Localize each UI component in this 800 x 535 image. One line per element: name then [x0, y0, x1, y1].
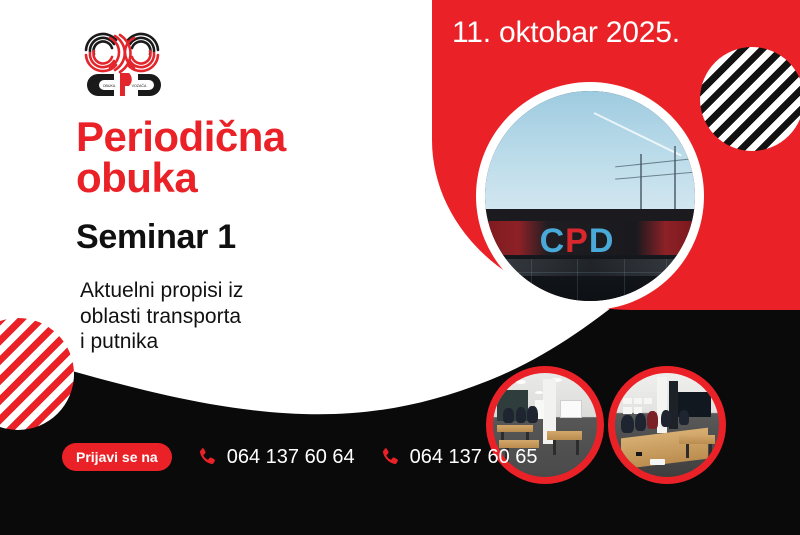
phone-entry-1[interactable]: 064 137 60 64 — [196, 446, 355, 469]
phone-entry-2[interactable]: 064 137 60 65 — [379, 446, 538, 469]
description-line-2: oblasti transporta — [80, 304, 380, 330]
description-line-3: i putnika — [80, 329, 380, 355]
apply-button[interactable]: Prijavi se na — [62, 443, 172, 471]
poster-canvas: OBUKA VOZAČA Periodična obuka Seminar 1 … — [0, 0, 800, 535]
main-photo-building: CPD — [476, 82, 704, 310]
logo-microtext-right: VOZAČA — [132, 83, 147, 88]
building-sign: CPD — [540, 224, 615, 258]
description-line-1: Aktuelni propisi iz — [80, 278, 380, 304]
striped-circle-top-right-icon — [700, 47, 800, 151]
phone-number-1: 064 137 60 64 — [227, 446, 355, 469]
classroom-photo-right — [608, 366, 726, 484]
seminar-subtitle: Seminar 1 — [76, 218, 396, 257]
phone-icon — [196, 446, 218, 468]
cpd-logo: OBUKA VOZAČA — [76, 14, 168, 98]
event-date: 11. oktobar 2025. — [452, 16, 680, 50]
contact-bar: Prijavi se na 064 137 60 64 064 137 60 6… — [62, 443, 532, 477]
seminar-description: Aktuelni propisi iz oblasti transporta i… — [80, 278, 380, 355]
page-title: Periodična obuka — [76, 116, 396, 198]
logo-microtext-left: OBUKA — [103, 84, 116, 88]
headline-line-1: Periodična — [76, 116, 396, 157]
phone-icon — [379, 446, 401, 468]
phone-number-2: 064 137 60 65 — [410, 446, 538, 469]
headline-line-2: obuka — [76, 157, 396, 198]
